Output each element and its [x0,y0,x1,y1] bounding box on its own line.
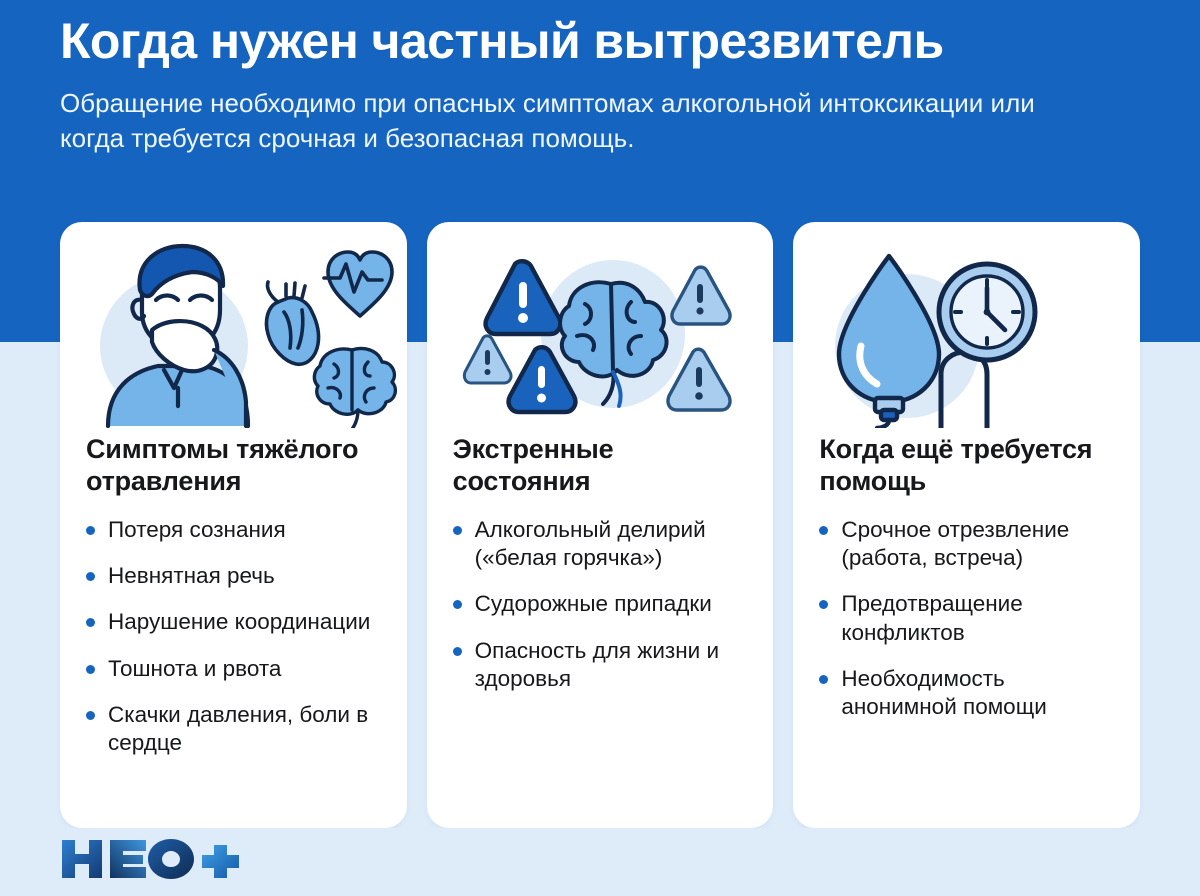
sick-man-heart-brain-illustration [86,238,385,428]
page-subtitle: Обращение необходимо при опасных симптом… [60,86,1080,156]
list-item: Тошнота и рвота [86,655,385,683]
list-item-text: Судорожные припадки [475,591,712,616]
footer-band [0,828,1200,896]
list-item: Алкогольный делирий («белая горячка») [453,516,752,573]
list-item-text: Невнятная речь [108,563,275,588]
list-item: Нарушение координации [86,608,385,636]
bullet-dot-icon [453,647,462,656]
list-item-text: Необходимость анонимной помощи [841,666,1046,719]
bullet-dot-icon [453,526,462,535]
card-bullet-list: Потеря сознания Невнятная речь Нарушение… [86,516,385,758]
brain-warning-triangles-illustration [453,238,752,428]
card-emergency-conditions: Экстренные состояния Алкогольный делирий… [427,222,774,828]
infographic-page: Когда нужен частный вытрезвитель Обращен… [0,0,1200,896]
list-item-text: Предотвращение конфликтов [841,591,1022,644]
card-title: Когда ещё требуется помощь [819,434,1118,498]
cards-row: Симптомы тяжёлого отравления Потеря созн… [60,222,1140,828]
list-item-text: Скачки давления, боли в сердце [108,702,368,755]
card-bullet-list: Срочное отрезвление (работа, встреча) Пр… [819,516,1118,722]
list-item: Необходимость анонимной помощи [819,665,1118,722]
list-item: Судорожные припадки [453,590,752,618]
bullet-dot-icon [453,600,462,609]
header-content: Когда нужен частный вытрезвитель Обращен… [60,14,1150,156]
list-item-text: Срочное отрезвление (работа, встреча) [841,517,1069,570]
card-other-help-cases: Когда ещё требуется помощь Срочное отрез… [793,222,1140,828]
list-item: Предотвращение конфликтов [819,590,1118,647]
list-item: Скачки давления, боли в сердце [86,701,385,758]
list-item: Потеря сознания [86,516,385,544]
bullet-dot-icon [86,665,95,674]
page-title: Когда нужен частный вытрезвитель [60,14,1150,68]
bullet-dot-icon [86,572,95,581]
card-title: Экстренные состояния [453,434,752,498]
list-item: Невнятная речь [86,562,385,590]
list-item-text: Опасность для жизни и здоровья [475,638,719,691]
card-severe-poisoning-symptoms: Симптомы тяжёлого отравления Потеря созн… [60,222,407,828]
bullet-dot-icon [819,675,828,684]
card-title: Симптомы тяжёлого отравления [86,434,385,498]
card-bullet-list: Алкогольный делирий («белая горячка») Су… [453,516,752,694]
list-item: Опасность для жизни и здоровья [453,637,752,694]
list-item-text: Тошнота и рвота [108,656,281,681]
list-item-text: Нарушение координации [108,609,370,634]
bullet-dot-icon [819,526,828,535]
iv-drip-clock-illustration [819,238,1118,428]
list-item-text: Алкогольный делирий («белая горячка») [475,517,706,570]
neo-plus-logo [58,836,248,882]
bullet-dot-icon [86,526,95,535]
bullet-dot-icon [819,600,828,609]
bullet-dot-icon [86,618,95,627]
list-item-text: Потеря сознания [108,517,286,542]
list-item: Срочное отрезвление (работа, встреча) [819,516,1118,573]
bullet-dot-icon [86,711,95,720]
